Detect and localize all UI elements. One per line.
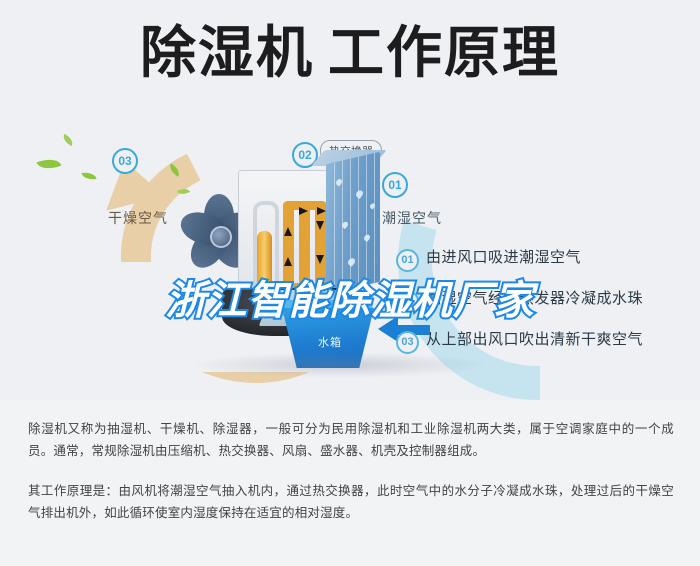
flow-arrow-right-icon (299, 207, 308, 215)
title-part-2: 工作原理 (328, 21, 560, 84)
fan-hub (210, 226, 232, 248)
step-text: 从上部出风口吹出清新干爽空气 (426, 330, 643, 349)
step-number: 01 (396, 249, 419, 272)
evaporator-fins (326, 152, 380, 294)
water-tank-label: 水箱 (318, 334, 342, 350)
flow-arrow-up-icon (284, 227, 292, 236)
step-text: 潮湿空气经过蒸发器冷凝成水珠 (426, 289, 643, 308)
title-part-1: 除湿机 (140, 21, 314, 84)
list-item: 02 潮湿空气经过蒸发器冷凝成水珠 (396, 289, 696, 313)
flow-arrow-down-icon (316, 221, 324, 230)
water-droplet-icon (347, 257, 357, 267)
step-text: 由进风口吸进潮湿空气 (426, 248, 581, 267)
step-number: 02 (396, 290, 419, 313)
description-panel: 除湿机又称为抽湿机、干燥机、除湿器，一般可分为民用除湿机和工业除湿机两大类，属于… (0, 400, 700, 566)
diagram-marker-03: 03 (112, 148, 138, 174)
flow-arrow-up-icon (284, 257, 292, 266)
coil-column (315, 203, 326, 289)
leaf-icon (37, 154, 62, 173)
list-item: 01 由进风口吸进潮湿空气 (396, 248, 696, 272)
step-list: 01 由进风口吸进潮湿空气 02 潮湿空气经过蒸发器冷凝成水珠 03 从上部出风… (396, 248, 696, 371)
dehumidifier-unit: 水箱 (230, 148, 390, 348)
water-droplet-icon (363, 234, 371, 242)
step-number: 03 (396, 331, 419, 354)
coil-column (283, 203, 294, 289)
compressor-cylinder (257, 231, 272, 289)
description-paragraph-1: 除湿机又称为抽湿机、干燥机、除湿器，一般可分为民用除湿机和工业除湿机两大类，属于… (28, 418, 674, 462)
flow-arrow-down-icon (316, 255, 324, 264)
water-droplet-icon (355, 189, 365, 199)
flow-arrow-right-icon (317, 207, 326, 215)
humid-air-label: 潮湿空气 (382, 208, 442, 228)
page-title: 除湿机工作原理 (0, 22, 700, 84)
list-item: 03 从上部出风口吹出清新干爽空气 (396, 330, 696, 354)
coil-column (299, 203, 310, 289)
leaf-icon (61, 134, 75, 146)
infographic-page: 除湿机工作原理 干燥空气 潮湿空气 03 02 01 热交换器 (0, 0, 700, 566)
description-paragraph-2: 其工作原理是：由风机将潮湿空气抽入机内，通过热交换器，此时空气中的水分子冷凝成水… (28, 480, 674, 524)
dry-air-label: 干燥空气 (108, 208, 168, 228)
